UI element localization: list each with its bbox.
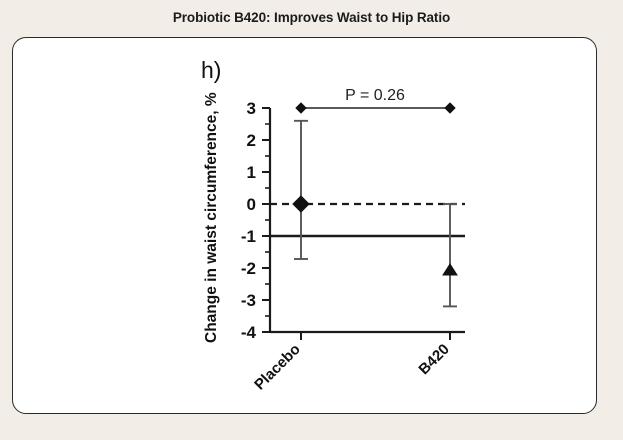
y-tick-label: -2 <box>241 259 256 278</box>
x-axis-ticks <box>301 332 450 340</box>
data-point-b420 <box>443 264 457 275</box>
error-bar-placebo <box>294 121 308 259</box>
scatter-chart: h) Change in waist circumference, % <box>13 38 597 414</box>
y-axis-tick-labels: 3 2 1 0 -1 -2 -3 -4 <box>241 99 257 342</box>
figure-card: h) Change in waist circumference, % <box>12 37 597 414</box>
y-tick-label: 2 <box>247 131 256 150</box>
y-tick-label: -1 <box>241 227 256 246</box>
y-tick-label: 3 <box>247 99 256 118</box>
y-tick-label: -3 <box>241 291 256 310</box>
y-axis-title: Change in waist circumference, % <box>203 92 220 343</box>
p-value-label: P = 0.26 <box>345 87 405 104</box>
data-point-placebo <box>293 196 309 212</box>
y-tick-label: 0 <box>247 195 256 214</box>
panel-letter: h) <box>201 57 221 83</box>
chart-area: h) Change in waist circumference, % <box>13 38 597 414</box>
x-category-label-placebo: Placebo <box>251 341 304 394</box>
y-tick-label: -4 <box>241 323 257 342</box>
x-category-label-b420: B420 <box>415 341 452 378</box>
slide-root: Probiotic B420: Improves Waist to Hip Ra… <box>0 0 623 440</box>
y-tick-label: 1 <box>247 163 256 182</box>
page-title: Probiotic B420: Improves Waist to Hip Ra… <box>0 10 623 25</box>
error-bar-b420 <box>443 204 457 306</box>
p-value-annotation: P = 0.26 <box>296 87 455 113</box>
